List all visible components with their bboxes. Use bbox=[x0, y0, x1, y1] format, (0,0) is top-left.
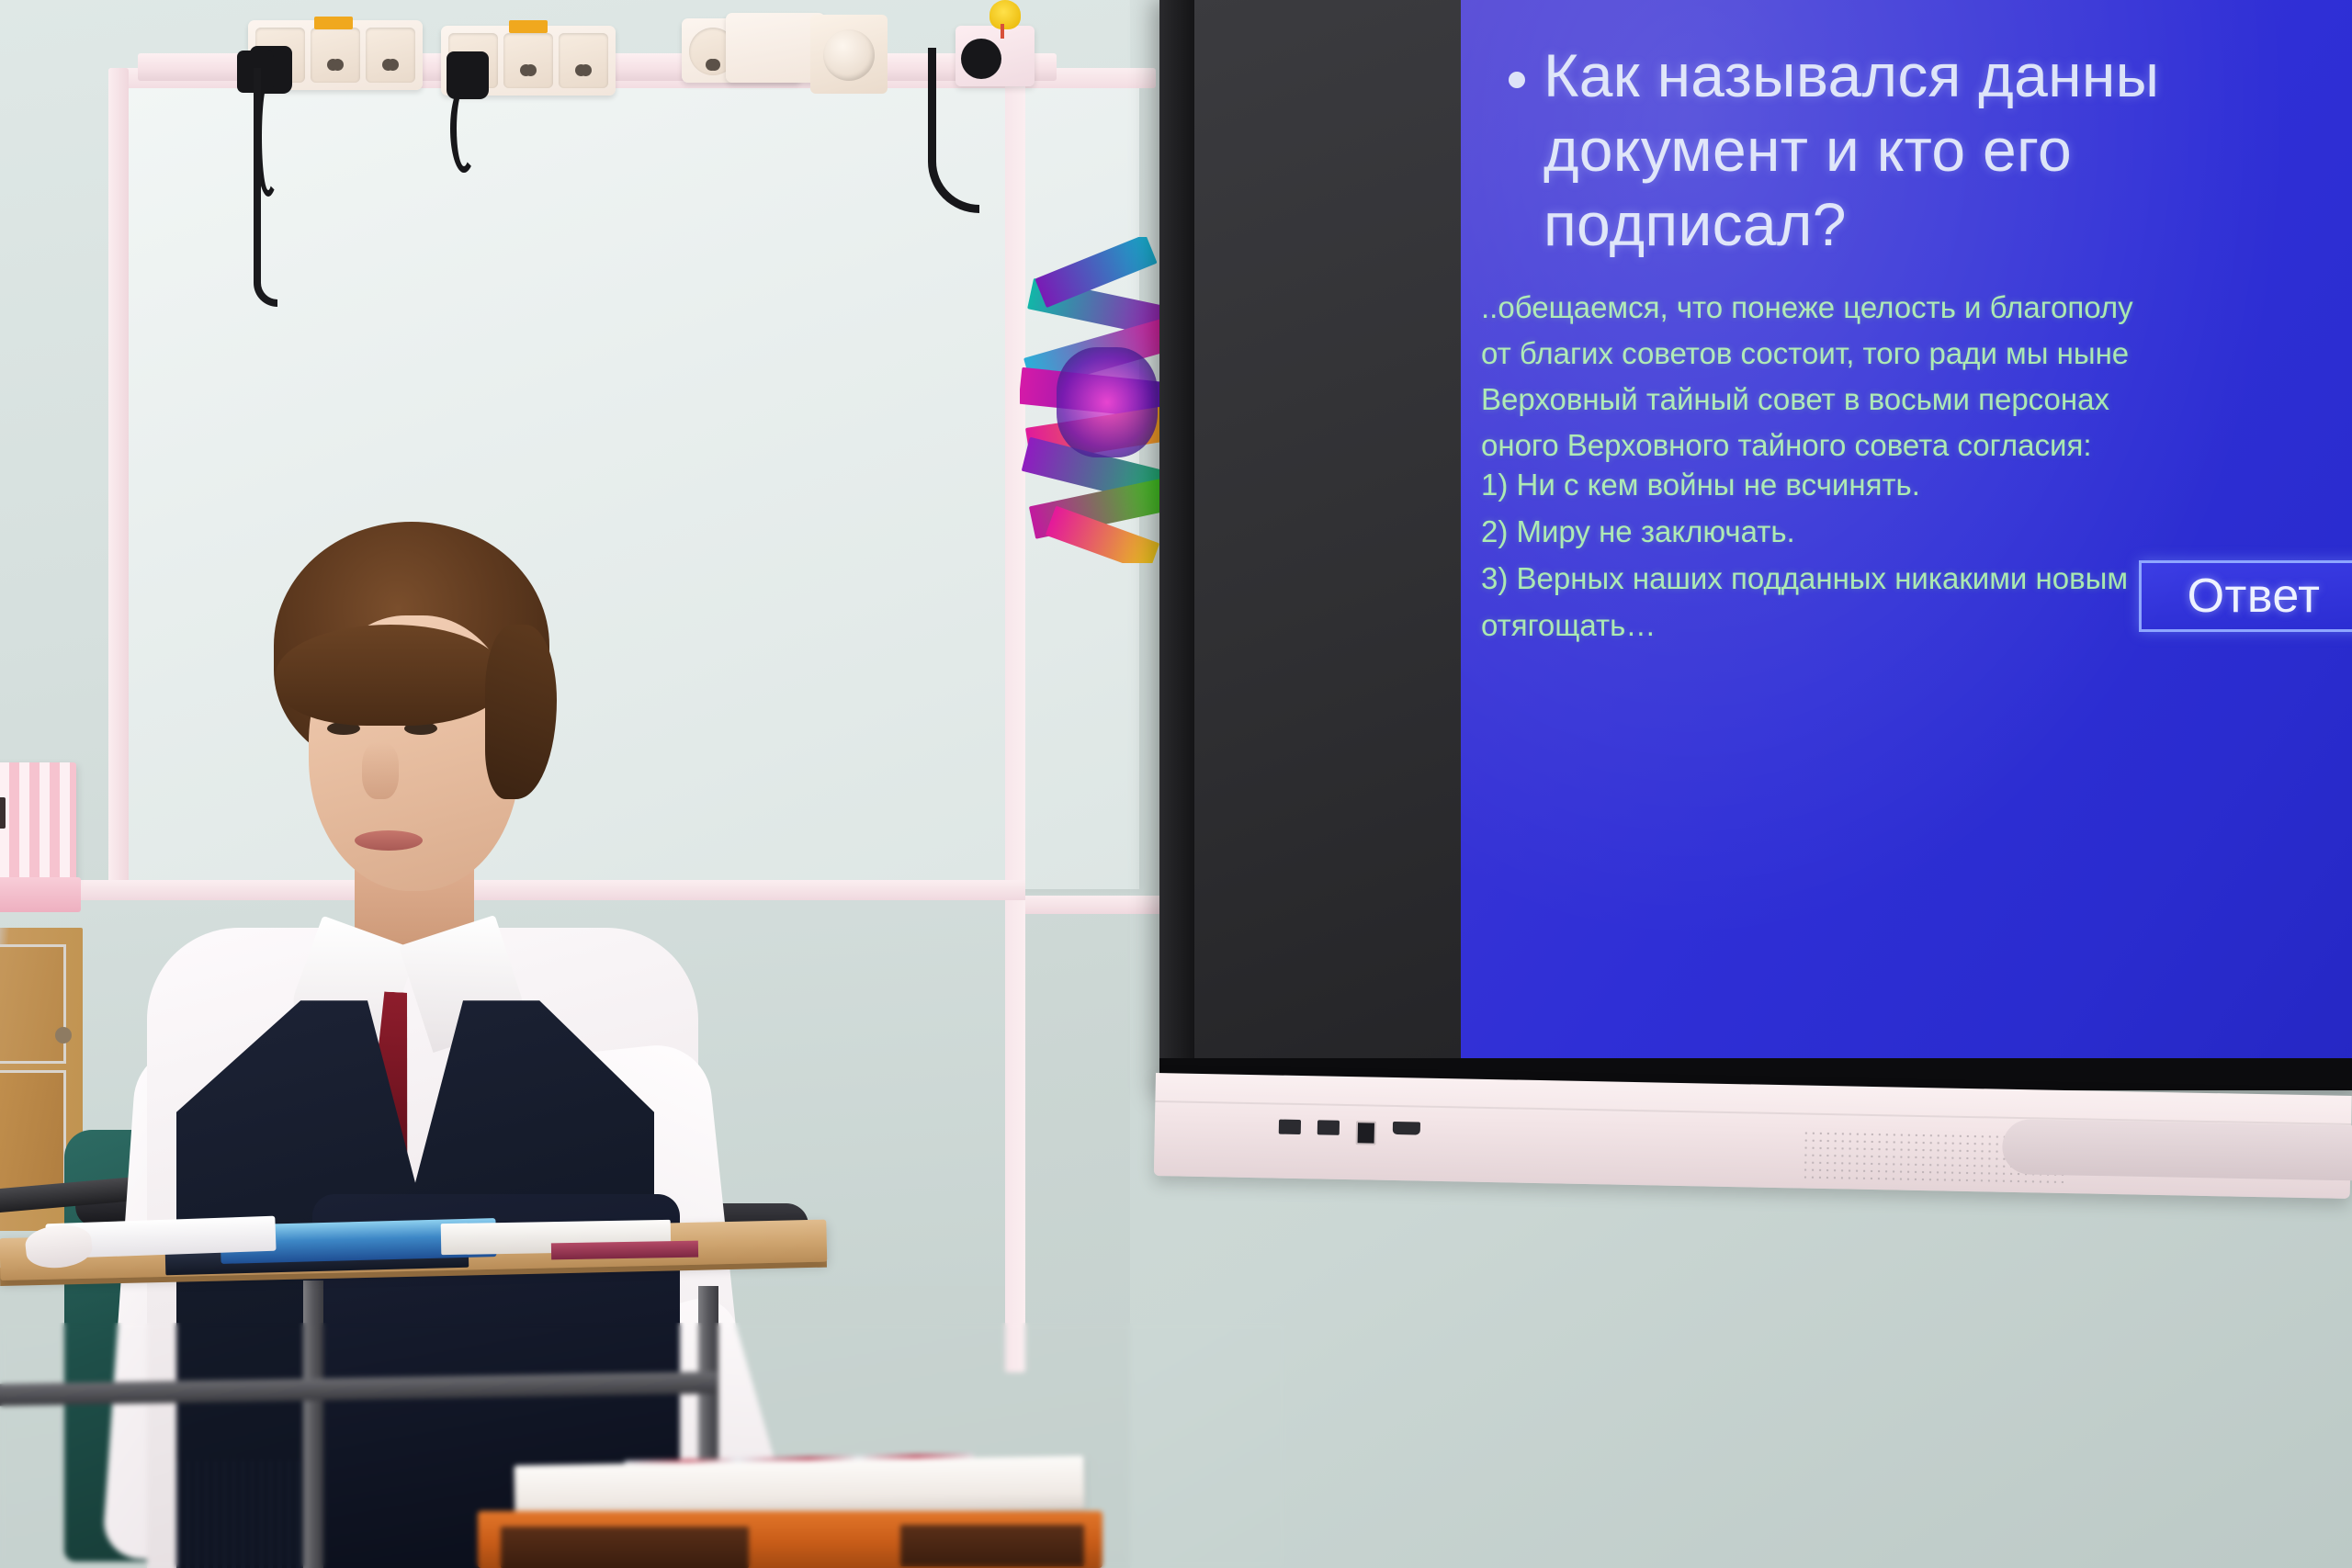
slide-title-line-2: документ и кто его bbox=[1543, 113, 2352, 187]
socket-2c[interactable] bbox=[559, 33, 608, 88]
pink-striped-storage-box bbox=[0, 762, 76, 882]
slide-body-line-3: Верховный тайный совет в восьми персонах bbox=[1481, 377, 2352, 423]
slide-body-line-1: ..обещаемся, что понеже целость и благоп… bbox=[1481, 285, 2352, 331]
socket-2b[interactable] bbox=[503, 33, 553, 88]
slide-title-line-1: Как назывался данны bbox=[1543, 39, 2352, 113]
usb-b-port-icon[interactable] bbox=[1356, 1121, 1376, 1145]
dimmer-switch[interactable] bbox=[810, 15, 888, 94]
dimmer-knob[interactable] bbox=[823, 29, 875, 81]
cabinet-lock-icon[interactable] bbox=[55, 1027, 72, 1043]
outlet-tag-1 bbox=[314, 17, 353, 29]
hdmi-port-icon[interactable] bbox=[1393, 1122, 1420, 1135]
crate-label-panel-right bbox=[900, 1525, 1084, 1566]
classroom-photo-scene: Как назывался данны документ и кто его п… bbox=[0, 0, 2352, 1568]
holographic-foil-ball-decoration bbox=[1020, 237, 1171, 563]
slide-title: Как назывался данны документ и кто его п… bbox=[1543, 39, 2352, 263]
box-clasp-icon bbox=[0, 797, 6, 829]
display-bezel-left bbox=[1159, 0, 1194, 1058]
display-unlit-area bbox=[1194, 0, 1461, 1058]
power-cord-2 bbox=[450, 85, 478, 173]
hair-side-lock bbox=[485, 625, 557, 799]
presentation-screen[interactable]: Как назывался данны документ и кто его п… bbox=[1461, 0, 2352, 1058]
cabinet-door-upper[interactable] bbox=[0, 944, 66, 1064]
open-magazine bbox=[514, 1456, 1085, 1519]
socket-1c[interactable] bbox=[366, 28, 415, 83]
desk-leg-left bbox=[303, 1280, 323, 1568]
bullet-icon bbox=[1509, 72, 1525, 88]
answer-button[interactable]: Ответ bbox=[2139, 560, 2352, 632]
slide-list-item-1: 1) Ни с кем войны не всчинять. bbox=[1481, 461, 2352, 508]
outlet-tag-2 bbox=[509, 20, 548, 33]
yellow-decoration-icon bbox=[989, 0, 1021, 29]
slide-body-quote: ..обещаемся, что понеже целость и благоп… bbox=[1481, 285, 2352, 469]
slide-list-item-2: 2) Миру не заключать. bbox=[1481, 508, 2352, 555]
slide-title-line-3: подписал? bbox=[1543, 187, 2352, 262]
mouth bbox=[355, 830, 423, 851]
slide-body-line-2: от благих советов состоит, того ради мы … bbox=[1481, 331, 2352, 377]
nose bbox=[362, 742, 399, 799]
display-port-cluster[interactable] bbox=[1279, 1120, 1420, 1146]
projector-plug[interactable] bbox=[961, 39, 1001, 79]
interactive-whiteboard-display[interactable]: Как назывался данны документ и кто его п… bbox=[1159, 0, 2352, 1090]
socket-1b[interactable] bbox=[311, 28, 360, 83]
usb-port-icon[interactable] bbox=[1279, 1120, 1301, 1134]
cabinet-door-lower[interactable] bbox=[0, 1070, 66, 1199]
display-bottom-trim bbox=[2002, 1119, 2352, 1180]
pink-box-lid bbox=[0, 877, 81, 912]
crate-label-panel-left bbox=[501, 1527, 749, 1568]
hanging-cord bbox=[254, 68, 277, 307]
usb-port-icon-2[interactable] bbox=[1317, 1120, 1340, 1134]
pink-notebook bbox=[551, 1241, 698, 1260]
hair-fringe bbox=[276, 625, 505, 726]
